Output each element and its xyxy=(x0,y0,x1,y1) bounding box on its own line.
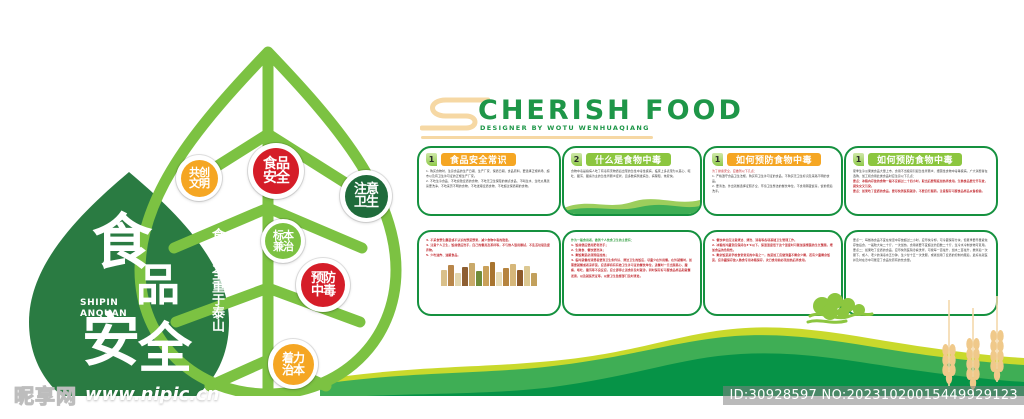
badge-shipin-anquan[interactable]: 食品 安全 xyxy=(248,143,304,199)
panel-line: 要点一：每餐熟食品不宜在常温中存放超过二小时，应尽快冷却，可冷藏保存分块，但夏季… xyxy=(853,238,989,248)
panel-body: 要点一：每餐熟食品不宜在常温中存放超过二小时，应尽快冷却，可冷藏保存分块，但夏季… xyxy=(846,232,996,263)
vertical-slogan: 食品安全重于泰山 xyxy=(208,228,223,332)
panel-line: 5. 少吃油炸、油腻食品。 xyxy=(426,253,552,258)
grains-photo xyxy=(441,260,537,286)
panel-body: 作为一般食用者，做到个人饮食卫生的主要有： 1. 饭前便后要用肥皂洗手； 2. … xyxy=(564,232,700,279)
panel-bottom-1[interactable]: 3. 不采食野生蘑菇或不认识的野菜野果，减少食物中毒的隐患。 4. 注意个人卫生… xyxy=(417,230,561,316)
panel-line: 2. 要清洁，外出就餐选择证照齐全、环境卫生整洁的餐饮单位，不食用隔夜饭菜，饭前… xyxy=(712,184,834,194)
poster-canvas: 食 品 安 全 SHIPIN ANQUAN 食品安全重于泰山 共创 文明 xyxy=(0,0,1024,419)
badge-gongchuang-wenming[interactable]: 共创 文明 xyxy=(176,155,222,201)
panel-number: 2 xyxy=(571,153,582,166)
badge-zhuyi-weisheng[interactable]: 注意 卫生 xyxy=(340,170,392,222)
panel-body: 3. 不采食野生蘑菇或不认识的野菜野果，减少食物中毒的隐患。 4. 注意个人卫生… xyxy=(419,232,559,258)
panel-top-3[interactable]: 1 如何预防食物中毒 为了健康安全，应做到以下几点： 1. 严格遵守食品卫生法规… xyxy=(703,146,843,216)
badge-line-2: 治本 xyxy=(282,364,304,376)
subline-en: DESIGNER BY WOTU WENHUAQIANG xyxy=(480,124,650,132)
title-pinyin: SHIPIN ANQUAN xyxy=(80,298,127,321)
panel-line: 2. 冰箱的冷藏室应保持在4℃以下，保温温度低于这个温度时可能加速细菌的生长繁殖… xyxy=(712,243,834,253)
title-char-quan: 全 xyxy=(138,324,190,374)
panel-number: 1 xyxy=(712,153,723,166)
panel-line: 4. 临时就餐的消费者要到卫生条件好、清洁卫生的饭店，尽量少在外用餐。在外就餐时… xyxy=(571,258,693,278)
panel-title: 什么是食物中毒 xyxy=(586,153,671,166)
panel-body: 1. 购买食物时，注意食品的生产日期、生产厂家、保质日期，食品原料，要选择正规商… xyxy=(419,166,559,189)
panel-body: 食物中毒是指病人吃了有毒有害物质后出现的急性中毒性疾病，临床上多表现为以恶心、呕… xyxy=(564,166,700,179)
wheat-stalk-icon xyxy=(965,308,981,394)
panel-body: 夏季生冷瓜果类食品大量上市，食用不当极易引起急性胃肠炎、细菌性食物中毒等疾病。广… xyxy=(846,166,996,194)
badge-line-2: 兼治 xyxy=(273,241,293,252)
wheat-stalk-icon xyxy=(941,300,957,386)
panel-body: 1. 餐饮单位应注意清洁、清洗、消毒等各项基础卫生管理工作。 2. 冰箱的冷藏室… xyxy=(705,232,841,263)
panel-header: 1 如何预防食物中毒 xyxy=(705,148,841,166)
title-char-pin: 品 xyxy=(136,266,178,306)
panel-bottom-2[interactable]: 作为一般食用者，做到个人饮食卫生的主要有： 1. 饭前便后要用肥皂洗手； 2. … xyxy=(562,230,702,316)
badge-line-2: 卫生 xyxy=(354,196,378,209)
cloud-decor-icon xyxy=(806,292,876,328)
panel-top-2[interactable]: 2 什么是食物中毒 食物中毒是指病人吃了有毒有害物质后出现的急性中毒性疾病，临床… xyxy=(562,146,702,216)
panel-line: 夏季生冷瓜果类食品大量上市，食用不当极易引起急性胃肠炎、细菌性食物中毒等疾病。广… xyxy=(853,169,989,179)
title-char-an: 安 xyxy=(82,314,138,367)
panel-top-1[interactable]: 1 食品安全常识 1. 购买食物时，注意食品的生产日期、生产厂家、保质日期，食品… xyxy=(417,146,561,216)
main-title-block: 食 品 安 全 SHIPIN ANQUAN 食品安全重于泰山 xyxy=(60,216,200,391)
panel-header: 1 如何预防食物中毒 xyxy=(846,148,996,166)
panel-header: 2 什么是食物中毒 xyxy=(564,148,700,166)
panel-header: 1 食品安全常识 xyxy=(419,148,559,166)
panel-wave-decor xyxy=(564,192,700,214)
watermark-id: ID:30928597 NO:20231020015449929123 xyxy=(723,386,1024,405)
panel-line: 1. 严格遵守食品卫生法规，购买有卫生许可证的食品，不购买无卫生标识及来路不明的… xyxy=(712,174,834,184)
badge-line-1: 食品 xyxy=(263,157,289,171)
badge-line-2: 文明 xyxy=(189,178,209,189)
panel-line: 要点：如果吃了变质的食品，要尽快到医院就诊，不要自行服药。注意留存可疑食品样品以… xyxy=(853,189,989,194)
panel-title: 如何预防食物中毒 xyxy=(727,153,821,166)
watermark-left: 昵享网 www.nipic.cn xyxy=(14,380,220,409)
panel-line: 1. 购买食物时，注意食品的生产日期、生产厂家、保质日期，食品原料，要选择正规商… xyxy=(426,169,552,179)
panel-line: 2. 不吃生冷食品、不吃腐败变质的食物、不吃无卫生保障的摊点食品、不喝生水、生吃… xyxy=(426,179,552,189)
pinyin-line-1: SHIPIN xyxy=(80,298,127,309)
badge-biaoben-jianzhi[interactable]: 标本 兼治 xyxy=(261,219,305,263)
panel-line: 要点二：如果吃了变质的食品，应尽快到医院诊察洗胃，可按每一百毫升，加水二百毫升，… xyxy=(853,248,989,263)
panel-number: 1 xyxy=(426,153,437,166)
wheat-stalk-icon xyxy=(989,296,1005,382)
watermark-site-cn: 昵享网 xyxy=(14,380,77,409)
panel-title: 如何预防食物中毒 xyxy=(868,153,962,166)
panel-number: 1 xyxy=(853,153,864,166)
headline-en: CHERISH FOOD xyxy=(478,95,744,126)
panel-title: 食品安全常识 xyxy=(441,153,516,166)
pinyin-line-2: ANQUAN xyxy=(80,309,127,320)
badge-zhuoli-zhiben[interactable]: 着力 治本 xyxy=(268,339,318,389)
badge-line-2: 安全 xyxy=(263,171,289,185)
panel-top-4[interactable]: 1 如何预防食物中毒 夏季生冷瓜果类食品大量上市，食用不当极易引起急性胃肠炎、细… xyxy=(844,146,998,216)
panel-line: 要点：冰箱内存放的食物一般不宜超过二十四小时，取出后要彻底加热再食用。生熟食品要… xyxy=(853,179,989,189)
header-rule xyxy=(421,136,653,139)
badge-line-2: 中毒 xyxy=(311,285,335,298)
panel-line: 3. 剩余饭菜是学校食堂常见的中毒之一，热菜加工应做到量不剩余少剩，若有少量剩余… xyxy=(712,253,834,263)
panel-line: 4. 注意个人卫生，饭前便后洗手，自己的餐具及茶杯等，不与他人混用擦拭，不乱丢垃… xyxy=(426,243,552,253)
panel-line: 食物中毒是指病人吃了有毒有害物质后出现的急性中毒性疾病，临床上多表现为以恶心、呕… xyxy=(571,169,693,179)
watermark-site-url: www.nipic.cn xyxy=(85,384,220,405)
panel-body: 为了健康安全，应做到以下几点： 1. 严格遵守食品卫生法规，购买有卫生许可证的食… xyxy=(705,166,841,194)
badge-yufang-zhongdu[interactable]: 预防 中毒 xyxy=(296,258,350,312)
